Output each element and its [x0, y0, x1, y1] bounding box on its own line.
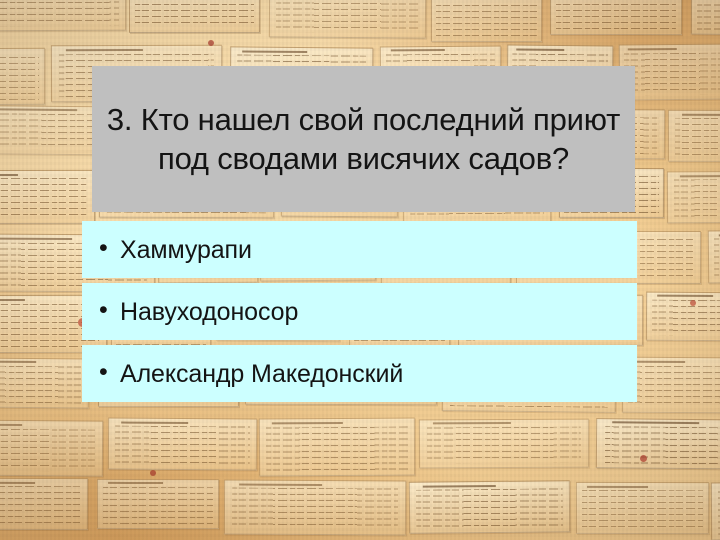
- answer-option-label: Навуходоносор: [120, 297, 298, 327]
- answer-option-2[interactable]: • Навуходоносор: [82, 283, 637, 340]
- answer-option-1[interactable]: • Хаммурапи: [82, 221, 637, 278]
- question-title-box: 3. Кто нашел свой последний приют под св…: [92, 66, 635, 212]
- bullet-icon: •: [99, 236, 113, 261]
- bullet-icon: •: [99, 360, 113, 385]
- answer-option-3[interactable]: • Александр Македонский: [82, 345, 637, 402]
- answer-option-label: Александр Македонский: [120, 359, 403, 389]
- answer-option-label: Хаммурапи: [120, 235, 252, 265]
- quiz-slide: 3. Кто нашел свой последний приют под св…: [0, 0, 720, 540]
- bullet-icon: •: [99, 298, 113, 323]
- page-title: 3. Кто нашел свой последний приют под св…: [98, 100, 629, 178]
- answer-options-list: • Хаммурапи • Навуходоносор • Александр …: [82, 221, 637, 402]
